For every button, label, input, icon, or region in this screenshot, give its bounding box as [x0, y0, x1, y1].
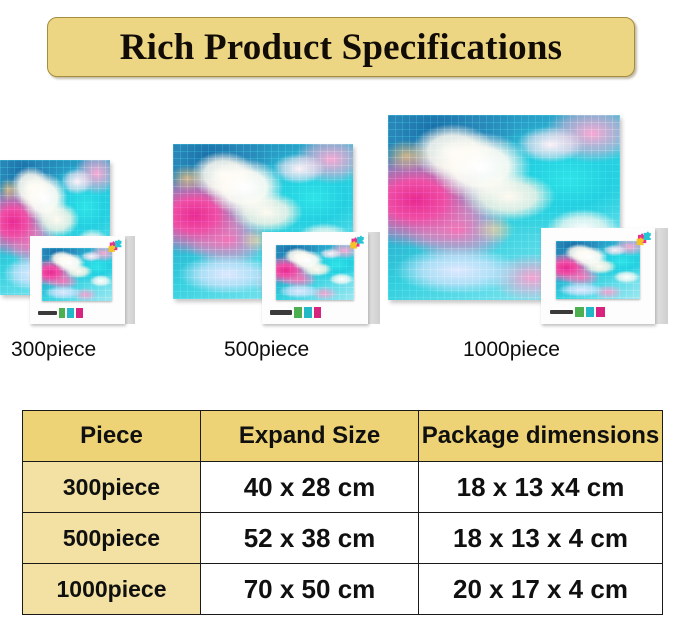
label-swatch-magenta — [76, 308, 83, 318]
product-box-1000piece — [541, 228, 668, 324]
table-header-row: Piece Expand Size Package dimensions — [23, 411, 663, 462]
cell-piece: 500piece — [23, 513, 201, 564]
box-side-panel — [125, 236, 136, 324]
box-front-panel — [30, 236, 125, 324]
barcode-strip — [38, 311, 57, 315]
brand-barcode-label — [550, 307, 605, 318]
table-row: 500piece 52 x 38 cm 18 x 13 x 4 cm — [23, 513, 663, 564]
label-swatch-cyan — [67, 308, 74, 318]
label-swatch-cyan — [304, 307, 312, 317]
cell-expand-size: 52 x 38 cm — [201, 513, 419, 564]
puzzle-pieces-logo-icon — [348, 235, 366, 250]
cell-expand-size: 70 x 50 cm — [201, 564, 419, 615]
brand-barcode-label — [270, 307, 321, 317]
barcode-strip — [270, 310, 291, 314]
cell-expand-size: 40 x 28 cm — [201, 462, 419, 513]
page-title-banner: Rich Product Specifications — [47, 17, 635, 77]
box-cover-artwork — [556, 241, 641, 299]
box-side-panel — [368, 232, 380, 324]
column-header-piece: Piece — [23, 411, 201, 462]
box-cover-artwork — [276, 245, 355, 300]
box-front-panel — [262, 232, 368, 324]
puzzle-pieces-logo-icon — [107, 239, 123, 253]
product-box-300piece — [30, 236, 135, 324]
product-box-500piece — [262, 232, 380, 324]
puzzle-piece-grid — [42, 248, 112, 301]
piece-label-300piece: 300piece — [11, 338, 96, 362]
cell-package-dimensions: 18 x 13 x 4 cm — [419, 513, 663, 564]
product-showcase: 300piece — [0, 92, 679, 382]
label-swatch-magenta — [596, 307, 605, 318]
piece-label-500piece: 500piece — [224, 338, 309, 362]
box-side-panel — [655, 228, 668, 324]
puzzle-pieces-logo-icon — [634, 231, 653, 246]
box-cover-artwork — [42, 248, 112, 301]
label-swatch-green — [59, 308, 66, 318]
label-swatch-magenta — [314, 307, 322, 317]
page-title: Rich Product Specifications — [120, 26, 563, 69]
cell-package-dimensions: 18 x 13 x4 cm — [419, 462, 663, 513]
table-row: 300piece 40 x 28 cm 18 x 13 x4 cm — [23, 462, 663, 513]
barcode-strip — [550, 310, 573, 314]
table-row: 1000piece 70 x 50 cm 20 x 17 x 4 cm — [23, 564, 663, 615]
puzzle-piece-grid — [556, 241, 641, 299]
column-header-expand-size: Expand Size — [201, 411, 419, 462]
label-swatch-green — [575, 307, 584, 318]
puzzle-piece-grid — [276, 245, 355, 300]
column-header-package-dimensions: Package dimensions — [419, 411, 663, 462]
label-swatch-cyan — [586, 307, 595, 318]
cell-piece: 1000piece — [23, 564, 201, 615]
cell-piece: 300piece — [23, 462, 201, 513]
cell-package-dimensions: 20 x 17 x 4 cm — [419, 564, 663, 615]
label-swatch-green — [294, 307, 302, 317]
box-front-panel — [541, 228, 655, 324]
brand-barcode-label — [38, 308, 83, 318]
piece-label-1000piece: 1000piece — [463, 338, 560, 362]
specifications-table: Piece Expand Size Package dimensions 300… — [22, 410, 663, 615]
